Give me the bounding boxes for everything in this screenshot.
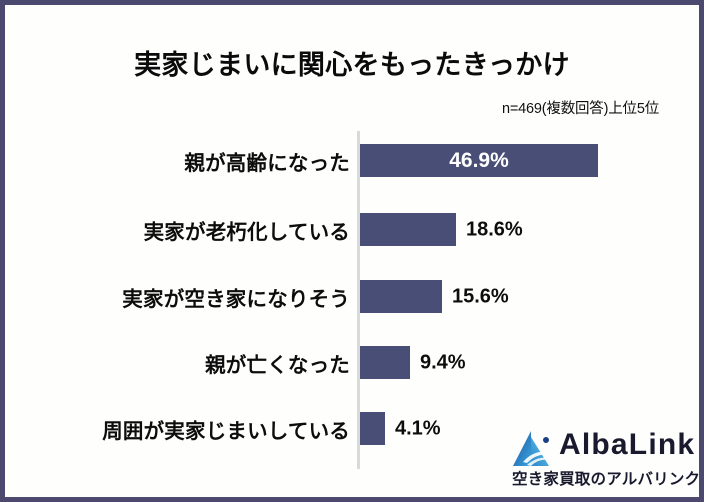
bar-category-label: 親が高齢になった <box>184 146 350 176</box>
albalink-tagline: 空き家買取のアルバリンク <box>512 467 700 489</box>
albalink-mountain-icon <box>511 429 555 469</box>
chart-image: 実家じまいに関心をもったきっかけ n=469(複数回答)上位5位 親が高齢になっ… <box>0 0 704 502</box>
chart-canvas: 実家じまいに関心をもったきっかけ n=469(複数回答)上位5位 親が高齢になっ… <box>5 5 699 497</box>
albalink-wordmark: AlbaLink <box>559 428 695 462</box>
bar-value-label: 18.6% <box>466 218 523 241</box>
bar-value-label: 9.4% <box>420 351 466 374</box>
bar-row: 実家が老朽化している 18.6% <box>5 213 699 246</box>
albalink-logo: AlbaLink 空き家買取のアルバリンク <box>511 426 691 488</box>
bar-rect <box>360 346 410 379</box>
bar-rect <box>360 213 456 246</box>
bar-category-label: 親が亡くなった <box>205 348 350 378</box>
bar-rect <box>360 280 442 313</box>
bar-value-label: 46.9% <box>360 149 598 173</box>
bar-rect: 46.9% <box>360 144 598 177</box>
bar-value-label: 15.6% <box>452 285 509 308</box>
chart-title: 実家じまいに関心をもったきっかけ <box>5 43 699 82</box>
bar-category-label: 実家が老朽化している <box>144 215 350 245</box>
chart-subtitle-sample-size: n=469(複数回答)上位5位 <box>502 97 659 118</box>
bar-category-label: 周囲が実家じまいしている <box>102 414 350 444</box>
bar-category-label: 実家が空き家になりそう <box>122 282 350 312</box>
bar-row: 実家が空き家になりそう 15.6% <box>5 280 699 313</box>
bar-row: 親が亡くなった 9.4% <box>5 346 699 379</box>
bar-row: 親が高齢になった 46.9% <box>5 144 699 177</box>
bar-rect <box>360 412 385 445</box>
plot-area: 親が高齢になった 46.9% 実家が老朽化している 18.6% 実家が空き家にな… <box>5 125 699 475</box>
bar-value-label: 4.1% <box>395 417 441 440</box>
